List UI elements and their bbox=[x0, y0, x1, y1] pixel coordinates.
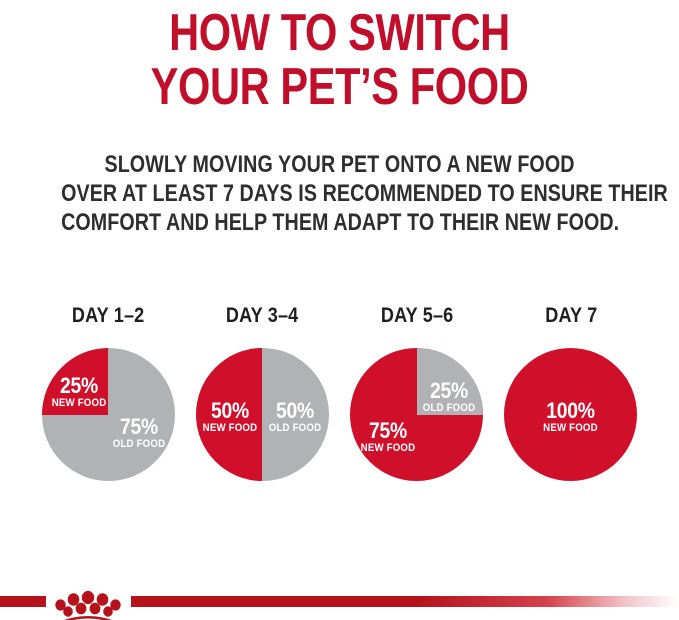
title-line-2: YOUR PET’S FOOD bbox=[68, 60, 611, 114]
pie-label-old-food: 75% OLD FOOD bbox=[106, 416, 172, 451]
day-label-3: DAY 5–6 bbox=[380, 305, 453, 326]
pie-chart-row: DAY 1–2 25% NEW FOOD 75% OLD FOOD DAY 3–… bbox=[0, 305, 679, 485]
subtitle-line-2: OVER AT LEAST 7 DAYS IS RECOMMENDED TO E… bbox=[61, 179, 618, 208]
pie-cell-day-3-4: DAY 3–4 50% NEW FOOD 50% OLD FOOD bbox=[192, 305, 332, 485]
pie-label-old-food: 50% OLD FOOD bbox=[263, 400, 327, 435]
pie-chart-day-3-4: 50% NEW FOOD 50% OLD FOOD bbox=[196, 348, 329, 481]
pie-pct-value: 50% bbox=[267, 400, 323, 422]
pie-pct-value: 50% bbox=[202, 400, 258, 422]
pie-pct-value: 75% bbox=[109, 416, 167, 438]
subtitle-line-3: COMFORT AND HELP THEM ADAPT TO THEIR NEW… bbox=[61, 208, 618, 237]
infographic-page: HOW TO SWITCH YOUR PET’S FOOD SLOWLY MOV… bbox=[0, 0, 679, 620]
pie-pct-value: 100% bbox=[512, 400, 629, 422]
pie-label-new-food: 75% NEW FOOD bbox=[354, 420, 422, 455]
pie-pct-value: 75% bbox=[358, 420, 418, 442]
pie-label-new-food: 50% NEW FOOD bbox=[198, 400, 262, 435]
subtitle-block: SLOWLY MOVING YOUR PET ONTO A NEW FOOD O… bbox=[0, 150, 679, 237]
pie-food-label: OLD FOOD bbox=[422, 402, 477, 415]
day-label-1: DAY 1–2 bbox=[72, 305, 145, 326]
pie-chart-day-7: 100% NEW FOOD bbox=[504, 348, 637, 481]
pie-food-label: NEW FOOD bbox=[512, 422, 629, 435]
pie-label-old-food: 25% OLD FOOD bbox=[418, 380, 480, 415]
pie-food-label: NEW FOOD bbox=[51, 397, 106, 410]
pie-label-new-food: 100% NEW FOOD bbox=[504, 400, 637, 435]
pie-pct-value: 25% bbox=[51, 375, 106, 397]
pie-food-label: OLD FOOD bbox=[267, 422, 323, 435]
crown-icon bbox=[48, 587, 128, 620]
pie-label-new-food: 25% NEW FOOD bbox=[48, 375, 110, 410]
title-line-1: HOW TO SWITCH bbox=[68, 6, 611, 60]
page-title: HOW TO SWITCH YOUR PET’S FOOD bbox=[0, 6, 679, 114]
day-label-2: DAY 3–4 bbox=[226, 305, 299, 326]
pie-cell-day-1-2: DAY 1–2 25% NEW FOOD 75% OLD FOOD bbox=[38, 305, 178, 485]
pie-chart-day-5-6: 25% OLD FOOD 75% NEW FOOD bbox=[350, 348, 483, 481]
pie-cell-day-5-6: DAY 5–6 25% OLD FOOD 75% NEW FOOD bbox=[347, 305, 487, 485]
pie-food-label: OLD FOOD bbox=[109, 438, 167, 451]
footer-bar-right-segment bbox=[131, 596, 679, 607]
pie-food-label: NEW FOOD bbox=[358, 442, 418, 455]
day-label-4: DAY 7 bbox=[545, 305, 597, 326]
footer-bar bbox=[0, 591, 679, 620]
pie-cell-day-7: DAY 7 100% NEW FOOD bbox=[501, 305, 641, 485]
pie-chart-day-1-2: 25% NEW FOOD 75% OLD FOOD bbox=[42, 348, 175, 481]
footer-bar-left-segment bbox=[0, 596, 46, 607]
subtitle-line-1: SLOWLY MOVING YOUR PET ONTO A NEW FOOD bbox=[61, 150, 618, 179]
pie-pct-value: 25% bbox=[422, 380, 477, 402]
pie-food-label: NEW FOOD bbox=[202, 422, 258, 435]
